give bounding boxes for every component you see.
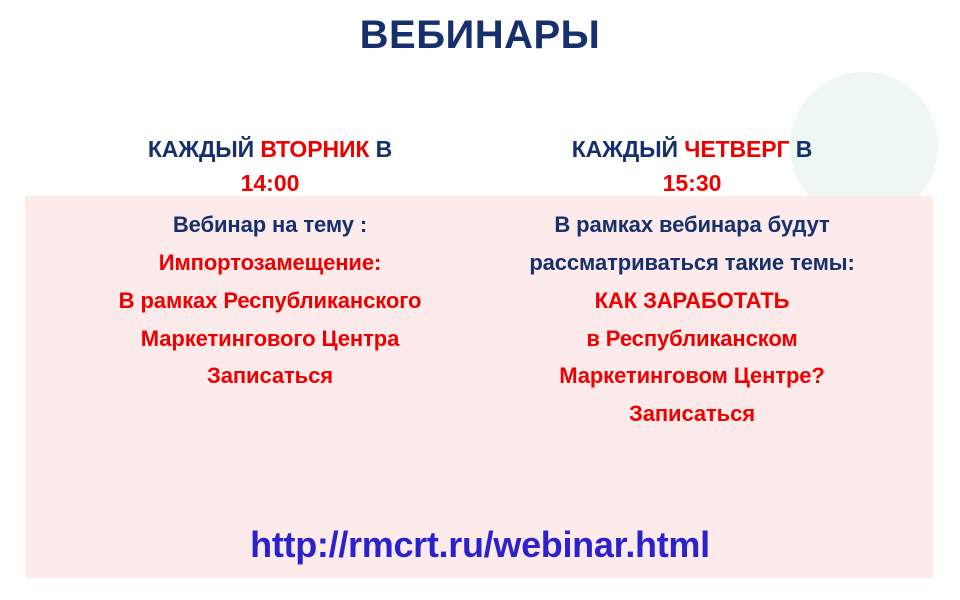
body-line: Маркетингового Центра (60, 320, 480, 358)
heading-suffix: В (369, 136, 392, 162)
schedule-heading-thursday: КАЖДЫЙ ЧЕТВЕРГ В (482, 132, 902, 166)
enroll-link-tuesday[interactable]: Записаться (60, 357, 480, 395)
schedule-time-thursday: 15:30 (482, 166, 902, 200)
webinar-url-link[interactable]: http://rmcrt.ru/webinar.html (0, 524, 960, 566)
schedule-heading-tuesday: КАЖДЫЙ ВТОРНИК В (60, 132, 480, 166)
schedule-column-tuesday: КАЖДЫЙ ВТОРНИК В 14:00 Вебинар на тему :… (60, 132, 480, 395)
webinar-slide: ВЕБИНАРЫ КАЖДЫЙ ВТОРНИК В 14:00 Вебинар … (0, 0, 960, 600)
schedule-body-thursday: В рамках вебинара будут рассматриваться … (482, 206, 902, 433)
heading-day-name: ЧЕТВЕРГ (684, 136, 789, 162)
slide-content: ВЕБИНАРЫ КАЖДЫЙ ВТОРНИК В 14:00 Вебинар … (0, 0, 960, 600)
heading-prefix: КАЖДЫЙ (572, 136, 685, 162)
body-line: Импортозамещение: (60, 244, 480, 282)
heading-day-name: ВТОРНИК (260, 136, 369, 162)
body-line: КАК ЗАРАБОТАТЬ (482, 282, 902, 320)
schedule-body-tuesday: Вебинар на тему : Импортозамещение: В ра… (60, 206, 480, 395)
body-line: рассматриваться такие темы: (482, 244, 902, 282)
body-line: в Республиканском (482, 320, 902, 358)
schedule-column-thursday: КАЖДЫЙ ЧЕТВЕРГ В 15:30 В рамках вебинара… (482, 132, 902, 433)
body-line: В рамках вебинара будут (482, 206, 902, 244)
body-line: Вебинар на тему : (60, 206, 480, 244)
enroll-link-thursday[interactable]: Записаться (482, 395, 902, 433)
body-line: Маркетинговом Центре? (482, 357, 902, 395)
schedule-time-tuesday: 14:00 (60, 166, 480, 200)
page-title: ВЕБИНАРЫ (0, 14, 960, 56)
heading-prefix: КАЖДЫЙ (148, 136, 261, 162)
heading-suffix: В (789, 136, 812, 162)
body-line: В рамках Республиканского (60, 282, 480, 320)
